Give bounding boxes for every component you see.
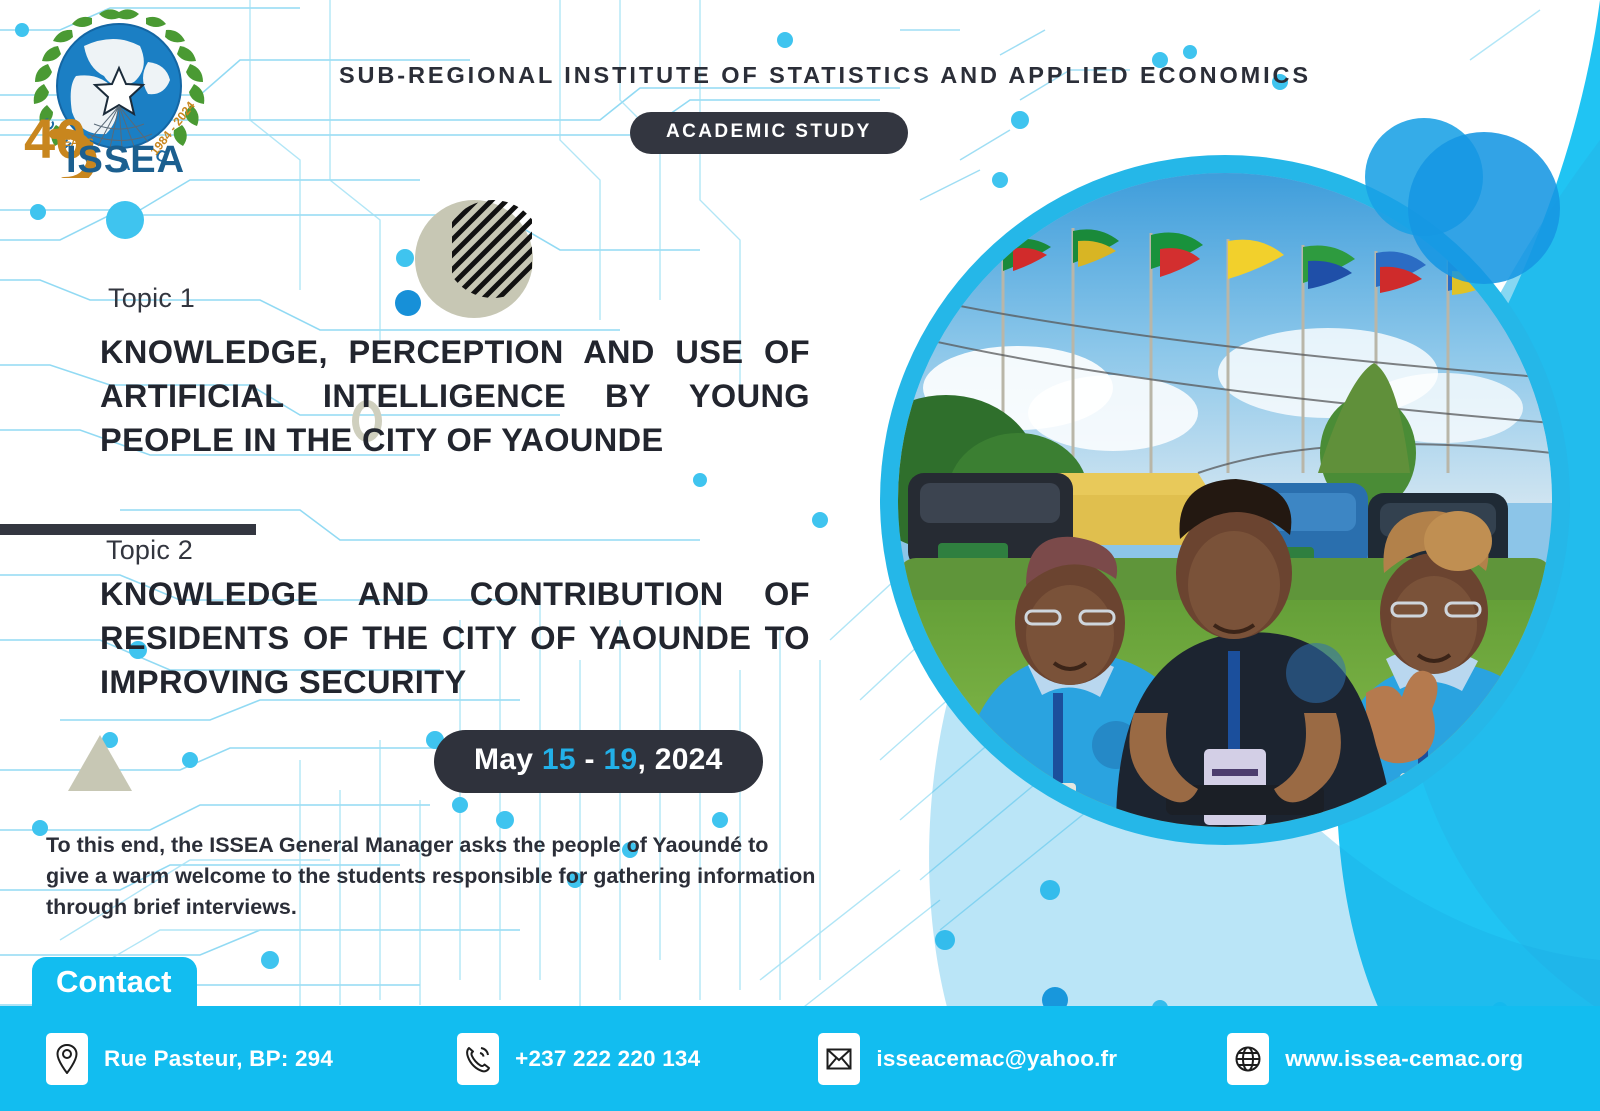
cemac-issea-logo: C E M A C 40 YEARS 1984 - 2024 ISSEA (14, 6, 224, 178)
contact-website-text: www.issea-cemac.org (1285, 1046, 1523, 1072)
contact-phone-text: +237 222 220 134 (515, 1046, 700, 1072)
decor-circle-large (1408, 132, 1560, 284)
date-month: May (474, 743, 542, 776)
envelope-icon (818, 1033, 860, 1085)
notice-paragraph: To this end, the ISSEA General Manager a… (46, 830, 816, 924)
status-badge: ACADEMIC STUDY (630, 112, 908, 154)
topic-2-title: KNOWLEDGE AND CONTRIBUTION OF RESIDENTS … (100, 572, 810, 705)
date-day-end: 19 (603, 743, 637, 776)
contact-row: Rue Pasteur, BP: 294 +237 222 220 134 is… (0, 1006, 1600, 1111)
blue-dot-decoration (395, 290, 421, 316)
page-title: SUB-REGIONAL INSTITUTE OF STATISTICS AND… (280, 62, 1370, 89)
globe-icon (1227, 1033, 1269, 1085)
striped-circle-decoration (452, 200, 532, 298)
section-divider (0, 524, 256, 535)
date-badge: May 15 - 19, 2024 (434, 730, 763, 793)
topic-1-title: KNOWLEDGE, PERCEPTION AND USE OF ARTIFIC… (100, 330, 810, 463)
date-year: , 2024 (637, 743, 722, 776)
date-day-start: 15 (542, 743, 576, 776)
contact-item-email[interactable]: isseacemac@yahoo.fr (818, 1033, 1117, 1085)
contact-item-address[interactable]: Rue Pasteur, BP: 294 (46, 1033, 333, 1085)
topic-2-label: Topic 2 (106, 535, 193, 566)
contact-item-website[interactable]: www.issea-cemac.org (1227, 1033, 1523, 1085)
svg-text:ISSEA: ISSEA (66, 139, 185, 178)
topic-1-label: Topic 1 (108, 283, 195, 314)
phone-icon (457, 1033, 499, 1085)
date-separator: - (576, 743, 604, 776)
poster-root: C E M A C 40 YEARS 1984 - 2024 ISSEA SUB… (0, 0, 1600, 1111)
contact-address-text: Rue Pasteur, BP: 294 (104, 1046, 333, 1072)
beige-triangle-decoration (68, 735, 132, 791)
contact-tab-label: Contact (32, 957, 197, 1006)
contact-item-phone[interactable]: +237 222 220 134 (457, 1033, 700, 1085)
location-pin-icon (46, 1033, 88, 1085)
contact-email-text: isseacemac@yahoo.fr (876, 1046, 1117, 1072)
